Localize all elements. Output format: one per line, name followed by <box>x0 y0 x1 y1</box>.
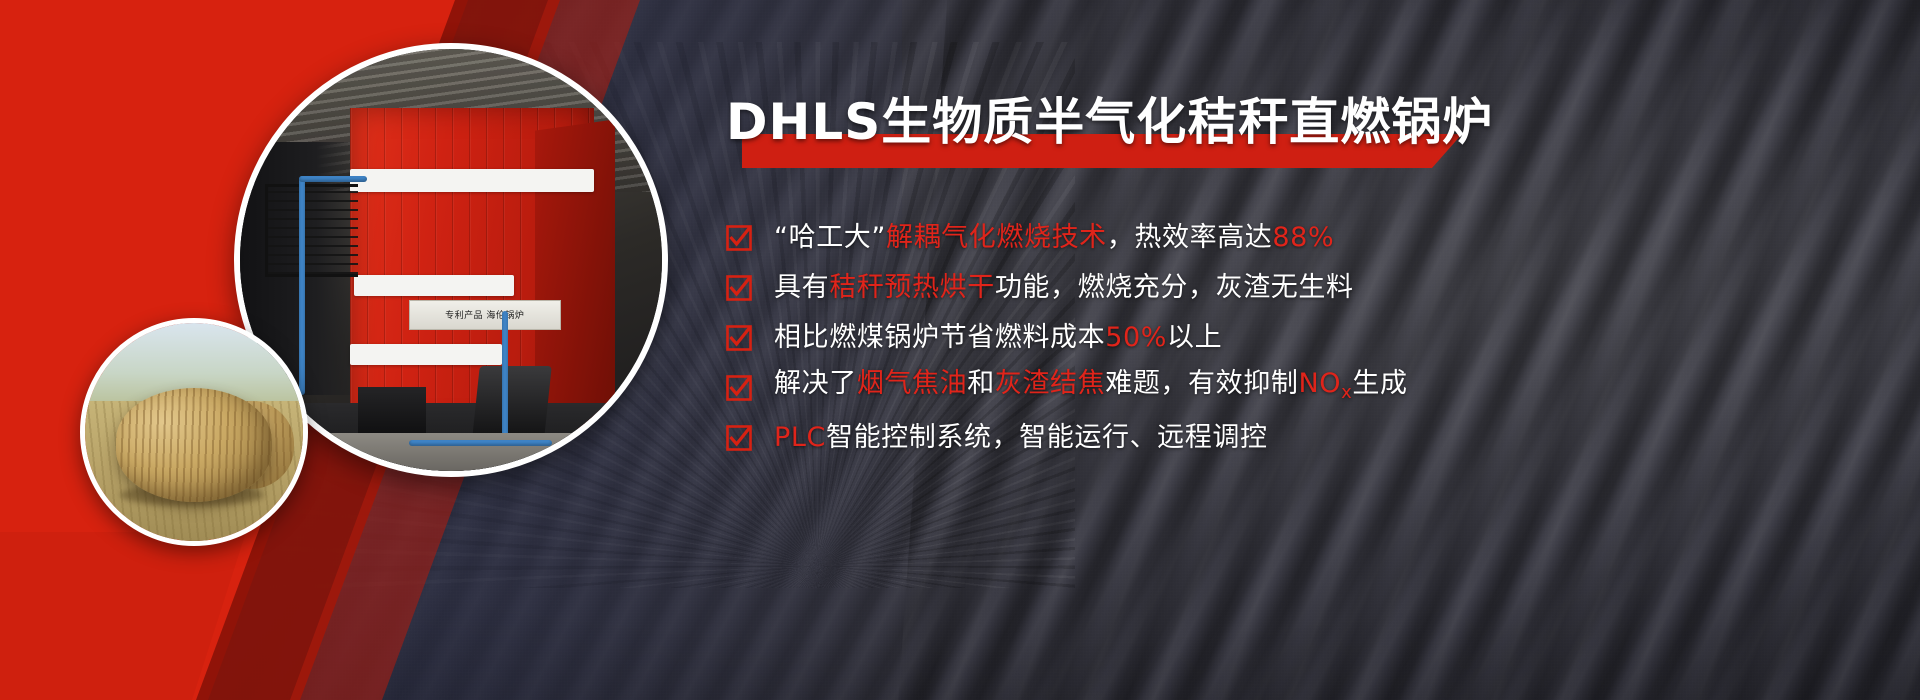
promo-banner: 专利产品 海伦锅炉 DHLS生物质半气化秸秆直燃锅炉 <box>0 0 1920 700</box>
feature-segment-highlight: 50% <box>1105 322 1167 353</box>
straw-bale-photo <box>80 318 308 546</box>
boiler-pipe <box>502 311 508 446</box>
boiler-stripe <box>350 344 502 365</box>
straw-bale-front <box>116 388 273 501</box>
boiler-stripe <box>354 275 514 296</box>
feature-segment: 解决了 <box>774 368 857 399</box>
checkbox-checked-icon <box>726 325 752 351</box>
feature-segment: 和 <box>967 368 995 399</box>
feature-segment: 智能控制系统，智能运行、远程调控 <box>826 422 1268 453</box>
boiler-pipe <box>299 176 367 182</box>
feature-segment-highlight: 烟气焦油 <box>857 368 967 399</box>
boiler-stripe <box>350 169 595 192</box>
feature-segment-highlight: 灰渣结焦 <box>995 368 1105 399</box>
content-column: DHLS生物质半气化秸秆直燃锅炉 “哈工大”解耦气化燃烧技术，热效率高达88% <box>726 0 1920 700</box>
feature-text: 具有秸秆预热烘干功能，燃烧充分，灰渣无生料 <box>774 268 1354 308</box>
feature-text: PLC智能控制系统，智能运行、远程调控 <box>774 418 1268 458</box>
feature-segment: 难题，有效抑制 <box>1105 368 1298 399</box>
feature-segment-highlight: 88% <box>1272 222 1334 253</box>
feature-segment: ，热效率高达 <box>1107 222 1273 253</box>
feature-list: “哈工大”解耦气化燃烧技术，热效率高达88% 具有秸秆预热烘干功能，燃烧充分，灰… <box>726 214 1920 464</box>
feature-segment: 以上 <box>1167 322 1222 353</box>
page-title: DHLS生物质半气化秸秆直燃锅炉 <box>726 92 1493 152</box>
feature-segment-highlight: 秸秆预热烘干 <box>829 272 995 303</box>
list-item: “哈工大”解耦气化燃烧技术，热效率高达88% <box>726 214 1920 262</box>
nox-label: NOx <box>1298 368 1352 399</box>
feature-segment: 具有 <box>774 272 829 303</box>
list-item: 相比燃煤锅炉节省燃料成本50%以上 <box>726 314 1920 362</box>
checkbox-checked-icon <box>726 275 752 301</box>
feature-segment: 生成 <box>1352 368 1407 399</box>
boiler-ladder-rail <box>265 184 358 277</box>
feature-text: “哈工大”解耦气化燃烧技术，热效率高达88% <box>774 218 1334 258</box>
feature-segment-highlight: 解耦气化燃烧技术 <box>886 222 1107 253</box>
feature-text: 解决了烟气焦油和灰渣结焦难题，有效抑制NOx生成 <box>774 364 1408 413</box>
nox-subscript: x <box>1341 382 1352 403</box>
feature-text: 相比燃煤锅炉节省燃料成本50%以上 <box>774 318 1222 358</box>
list-item: 具有秸秆预热烘干功能，燃烧充分，灰渣无生料 <box>726 264 1920 312</box>
headline-block: DHLS生物质半气化秸秆直燃锅炉 <box>726 92 1493 164</box>
feature-segment: 相比燃煤锅炉节省燃料成本 <box>774 322 1105 353</box>
checkbox-checked-icon <box>726 375 752 401</box>
list-item: 解决了烟气焦油和灰渣结焦难题，有效抑制NOx生成 <box>726 364 1920 412</box>
boiler-pipe <box>409 440 552 446</box>
list-item: PLC智能控制系统，智能运行、远程调控 <box>726 414 1920 462</box>
feature-segment-highlight: PLC <box>774 422 826 453</box>
boiler-feeder-motor <box>473 366 552 438</box>
boiler-nameplate: 专利产品 海伦锅炉 <box>409 300 561 330</box>
feature-segment: “哈工大” <box>774 222 886 253</box>
checkbox-checked-icon <box>726 225 752 251</box>
checkbox-checked-icon <box>726 425 752 451</box>
feature-segment: 功能，燃烧充分，灰渣无生料 <box>995 272 1354 303</box>
